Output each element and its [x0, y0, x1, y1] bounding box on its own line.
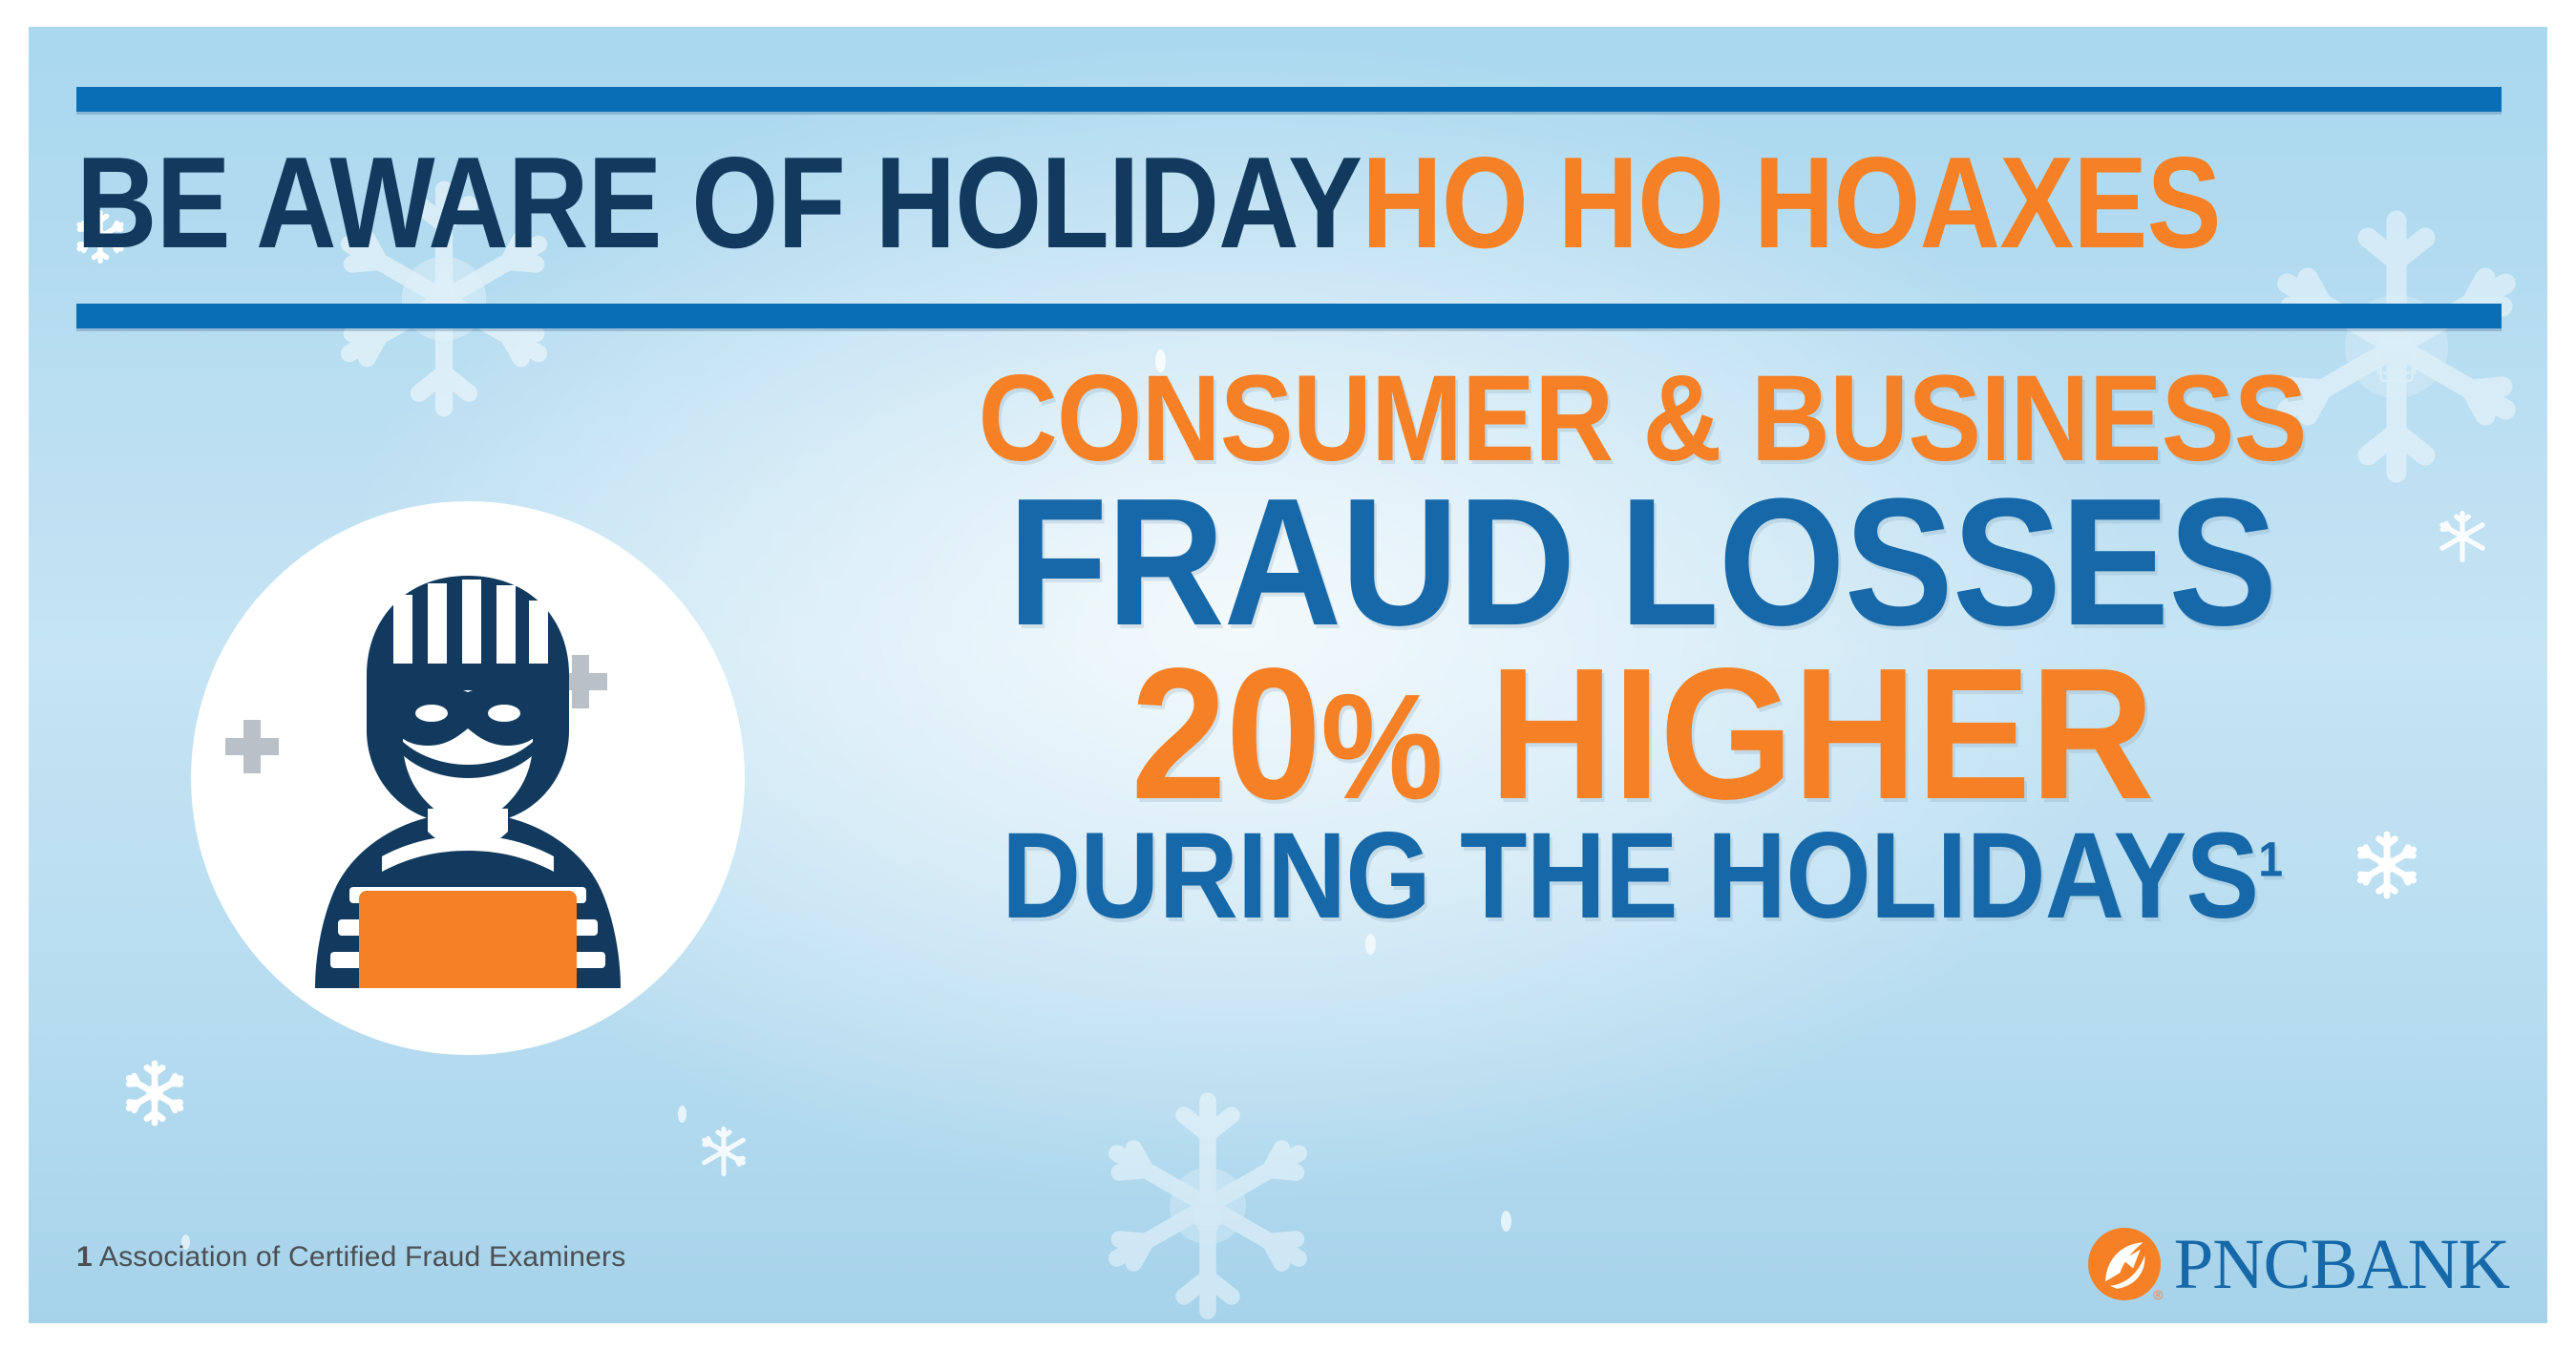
pnc-bank-logo[interactable]: ® PNCBANK — [2088, 1220, 2509, 1308]
statement-line-4-text: DURING THE HOLIDAYS — [1002, 808, 2258, 944]
footnote-text: Association of Certified Fraud Examiners — [99, 1241, 626, 1273]
statement-line-3: 20% HIGHER — [869, 648, 2415, 820]
footnote: 1Association of Certified Fraud Examiner… — [76, 1241, 625, 1274]
thief-illustration-badge — [191, 501, 745, 1055]
pnc-arrow-mark-icon: ® — [2088, 1228, 2161, 1300]
infographic-canvas: BE AWARE OF HOLIDAY HO HO HOAXES — [29, 27, 2547, 1323]
headline-primary: BE AWARE OF HOLIDAY — [76, 137, 1362, 267]
snowflake-large-bottom-icon — [1088, 1086, 1327, 1323]
pnc-wordmark: PNCBANK — [2174, 1229, 2509, 1300]
statement-line-4: DURING THE HOLIDAYS1 — [886, 820, 2398, 933]
snowflake-small-4 — [697, 1125, 750, 1178]
main-statement: CONSUMER & BUSINESS FRAUD LOSSES 20% HIG… — [802, 363, 2482, 933]
infographic-root: BE AWARE OF HOLIDAY HO HO HOAXES — [0, 0, 2576, 1350]
footnote-number: 1 — [76, 1241, 93, 1273]
snow-dot-5 — [678, 1106, 686, 1123]
page-title: BE AWARE OF HOLIDAY HO HO HOAXES — [76, 107, 2168, 298]
statement-percentage-number: 20 — [1130, 629, 1320, 838]
header-rule-bottom — [76, 304, 2502, 328]
snow-dot-4 — [1501, 1211, 1511, 1232]
masked-thief-icon — [265, 568, 670, 988]
statement-line-2: FRAUD LOSSES — [886, 479, 2398, 646]
headline-accent: HO HO HOAXES — [1362, 137, 2220, 267]
snowflake-small-2 — [119, 1058, 190, 1129]
statement-higher-word: HIGHER — [1489, 629, 2154, 838]
statement-line-1: CONSUMER & BUSINESS — [886, 363, 2398, 475]
statement-percent-sign: % — [1320, 664, 1442, 831]
registered-trademark-icon: ® — [2153, 1287, 2163, 1302]
statement-footnote-marker: 1 — [2258, 832, 2283, 886]
